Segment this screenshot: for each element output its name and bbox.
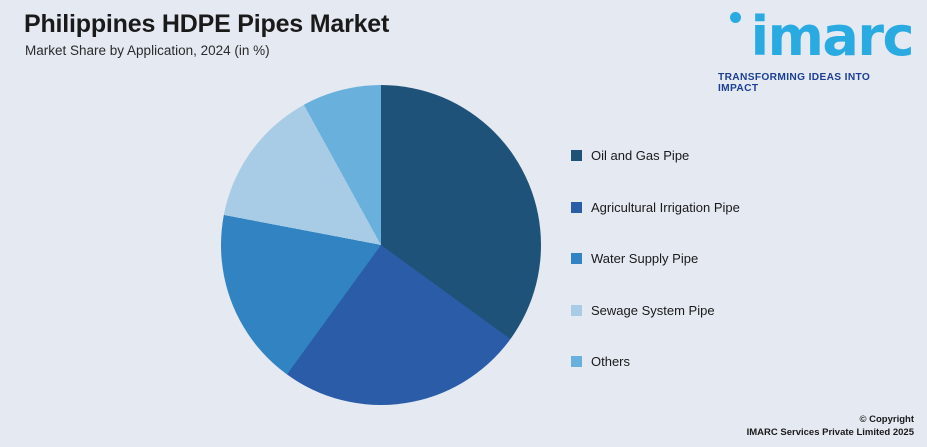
- chart-page: Philippines HDPE Pipes Market Market Sha…: [0, 0, 927, 447]
- imarc-logo: imarc TRANSFORMING IDEAS INTO IMPACT: [718, 8, 913, 83]
- legend-label: Sewage System Pipe: [591, 303, 715, 318]
- page-title: Philippines HDPE Pipes Market: [24, 10, 389, 39]
- legend-label: Oil and Gas Pipe: [591, 148, 689, 163]
- legend-swatch-icon: [571, 356, 582, 367]
- legend-swatch-icon: [571, 150, 582, 161]
- page-subtitle: Market Share by Application, 2024 (in %): [25, 43, 270, 58]
- logo-dot-icon: [730, 12, 741, 23]
- legend-item[interactable]: Water Supply Pipe: [571, 233, 871, 285]
- legend-label: Others: [591, 354, 630, 369]
- logo-wordmark: imarc: [751, 10, 913, 64]
- chart-legend: Oil and Gas PipeAgricultural Irrigation …: [571, 130, 871, 388]
- legend-item[interactable]: Agricultural Irrigation Pipe: [571, 182, 871, 234]
- legend-swatch-icon: [571, 253, 582, 264]
- company-line: IMARC Services Private Limited 2025: [747, 426, 914, 439]
- logo-tagline: TRANSFORMING IDEAS INTO IMPACT: [718, 72, 912, 94]
- legend-swatch-icon: [571, 202, 582, 213]
- pie-chart: [221, 85, 541, 405]
- footer-copyright: © Copyright IMARC Services Private Limit…: [747, 413, 914, 439]
- pie-slices: [221, 85, 541, 405]
- legend-label: Water Supply Pipe: [591, 251, 698, 266]
- legend-item[interactable]: Sewage System Pipe: [571, 285, 871, 337]
- legend-item[interactable]: Others: [571, 336, 871, 388]
- legend-label: Agricultural Irrigation Pipe: [591, 200, 740, 215]
- legend-item[interactable]: Oil and Gas Pipe: [571, 130, 871, 182]
- legend-swatch-icon: [571, 305, 582, 316]
- copyright-line: © Copyright: [747, 413, 914, 426]
